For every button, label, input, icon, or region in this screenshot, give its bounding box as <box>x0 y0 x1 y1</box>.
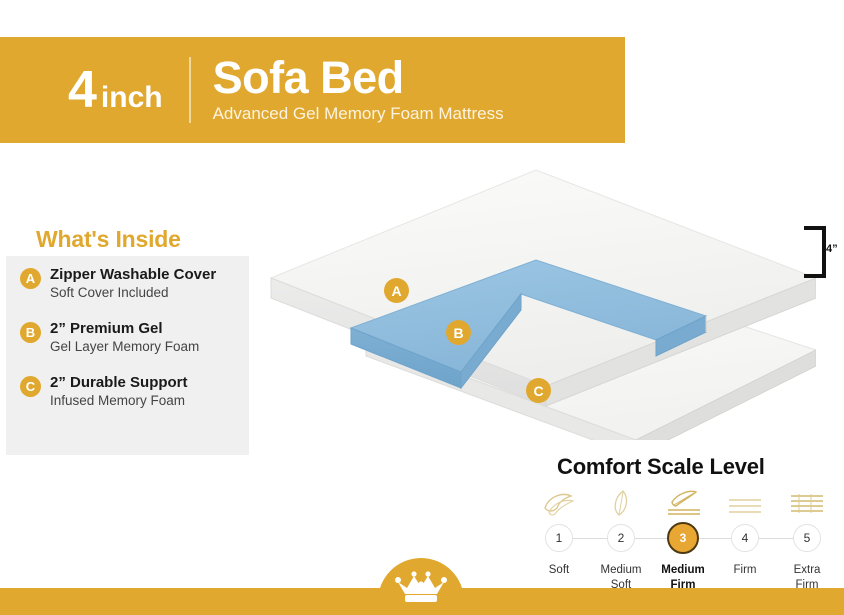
whats-inside-list: A Zipper Washable Cover Soft Cover Inclu… <box>20 266 241 428</box>
scale-node-5[interactable]: 5 <box>776 524 838 552</box>
list-item-subtext: Soft Cover Included <box>50 285 216 302</box>
scale-node-4[interactable]: 4 <box>714 524 776 552</box>
layer-badge-c: C <box>20 376 41 397</box>
list-item-heading: Zipper Washable Cover <box>50 266 216 284</box>
header-size-group: 4inch <box>68 64 163 116</box>
height-marker-label: 4” <box>826 243 838 255</box>
comfort-scale-track: 1 2 3 4 5 <box>528 522 838 554</box>
list-item-subtext: Gel Layer Memory Foam <box>50 339 199 356</box>
list-item-heading: 2” Durable Support <box>50 374 188 392</box>
callout-dot-a: A <box>384 278 409 303</box>
mattress-illustration: A B C <box>236 160 816 440</box>
list-item-heading: 2” Premium Gel <box>50 320 199 338</box>
list-item: C 2” Durable Support Infused Memory Foam <box>20 374 241 410</box>
header-banner: 4inch Sofa Bed Advanced Gel Memory Foam … <box>0 37 625 143</box>
header-size-unit: inch <box>101 81 163 114</box>
scale-node-number: 1 <box>545 524 573 552</box>
feather-icon <box>590 488 652 518</box>
header-content: 4inch Sofa Bed Advanced Gel Memory Foam … <box>68 55 504 124</box>
scale-node-number: 5 <box>793 524 821 552</box>
curled-feather-icon <box>528 488 590 518</box>
product-subtitle: Advanced Gel Memory Foam Mattress <box>213 104 504 124</box>
scale-node-number: 2 <box>607 524 635 552</box>
scale-node-number-active: 3 <box>667 522 699 554</box>
callout-dot-b: B <box>446 320 471 345</box>
dense-lines-icon <box>776 488 838 518</box>
lines-icon <box>714 488 776 518</box>
header-size-number: 4 <box>68 61 96 119</box>
scale-node-number: 4 <box>731 524 759 552</box>
header-divider <box>189 57 191 123</box>
crown-icon <box>394 568 448 606</box>
layer-badge-b: B <box>20 322 41 343</box>
list-item-text: Zipper Washable Cover Soft Cover Include… <box>50 266 216 302</box>
list-item: A Zipper Washable Cover Soft Cover Inclu… <box>20 266 241 302</box>
list-item: B 2” Premium Gel Gel Layer Memory Foam <box>20 320 241 356</box>
scale-node-1[interactable]: 1 <box>528 524 590 552</box>
product-title: Sofa Bed <box>213 55 504 101</box>
scale-node-3[interactable]: 3 <box>652 522 714 554</box>
comfort-scale-title: Comfort Scale Level <box>557 454 765 480</box>
list-item-text: 2” Durable Support Infused Memory Foam <box>50 374 188 410</box>
header-title-group: Sofa Bed Advanced Gel Memory Foam Mattre… <box>213 55 504 124</box>
whats-inside-panel: A Zipper Washable Cover Soft Cover Inclu… <box>6 256 249 455</box>
layer-badge-a: A <box>20 268 41 289</box>
product-infographic: 4inch Sofa Bed Advanced Gel Memory Foam … <box>0 0 844 615</box>
comfort-scale-icons <box>528 484 838 518</box>
comfort-scale: 1 2 3 4 5 Soft MediumSoft MediumFirm Fir… <box>528 484 838 584</box>
list-item-text: 2” Premium Gel Gel Layer Memory Foam <box>50 320 199 356</box>
callout-dot-c: C <box>526 378 551 403</box>
feather-on-lines-icon <box>652 488 714 518</box>
scale-node-2[interactable]: 2 <box>590 524 652 552</box>
whats-inside-title: What's Inside <box>36 226 181 253</box>
list-item-subtext: Infused Memory Foam <box>50 393 188 410</box>
